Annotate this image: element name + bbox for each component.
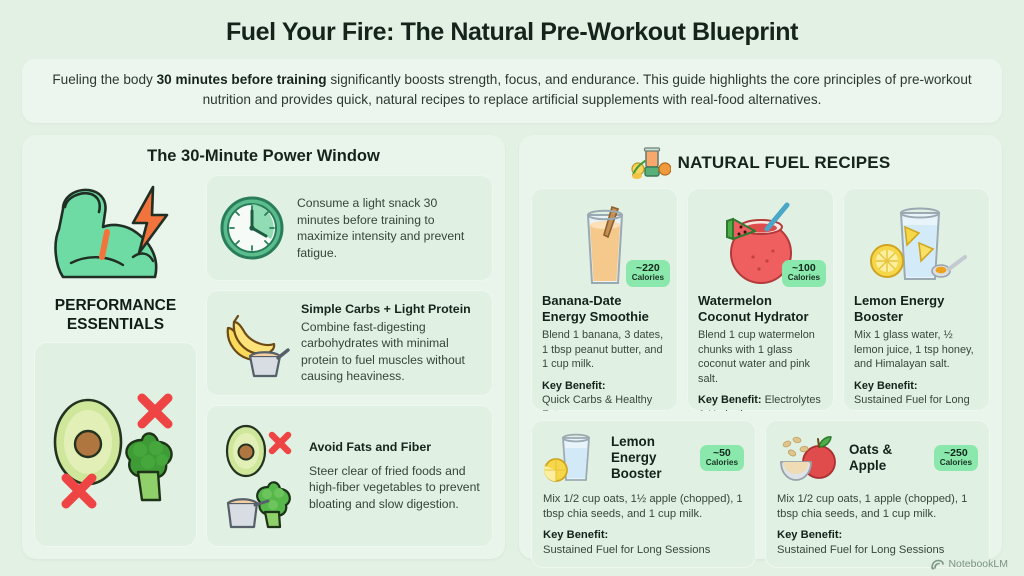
recipe-image-3 xyxy=(854,197,979,289)
recipe-desc-3: Mix 1 glass water, ½ lemon juice, 1 tsp … xyxy=(854,328,979,372)
performance-essentials-label: PERFORMANCE ESSENTIALS xyxy=(34,296,197,334)
clock-icon-wrap xyxy=(218,194,286,262)
left-panel-heading: The 30-Minute Power Window xyxy=(34,147,493,166)
recipe-benefit-4: Key Benefit: Sustained Fuel for Long Ses… xyxy=(543,528,744,558)
subtitle-pre: Fueling the body xyxy=(52,72,156,87)
left-visuals-column: PERFORMANCE ESSENTIALS xyxy=(34,175,197,547)
tip-text-1: Consume a light snack 30 minutes before … xyxy=(297,195,481,261)
blender-fruits-icon xyxy=(631,147,671,179)
recipe-desc-1: Blend 1 banana, 3 dates, 1 tbsp peanut b… xyxy=(542,328,667,372)
benefit-value-4: Sustained Fuel for Long Sessions xyxy=(543,544,710,556)
recipe-title-3: Lemon Energy Booster xyxy=(854,293,979,324)
calorie-label-4: Calories xyxy=(706,459,738,468)
clock-icon xyxy=(218,194,286,262)
recipe-row-bottom: Lemon Energy Booster ~50 Calories Mix 1/… xyxy=(531,420,990,568)
notebooklm-logo-icon xyxy=(931,559,944,570)
right-panel-heading: NATURAL FUEL RECIPES xyxy=(678,153,891,173)
left-panel-body: PERFORMANCE ESSENTIALS xyxy=(34,175,493,547)
recipe-card-oats-apple[interactable]: Oats & Apple ~250 Calories Mix 1/2 cup o… xyxy=(765,420,990,568)
recipe-card-watermelon-coconut[interactable]: ~100 Calories Watermelon Coconut Hydrato… xyxy=(687,188,834,411)
tip-body-3: Steer clear of fried foods and high-fibe… xyxy=(309,463,481,513)
banana-protein-scoop-icon xyxy=(218,308,290,378)
avoid-foods-icon-wrap xyxy=(218,421,298,531)
recipe-card-lemon-energy[interactable]: Lemon Energy Booster Mix 1 glass water, … xyxy=(843,188,990,411)
recipe-card-banana-date[interactable]: ~220 Calories Banana-Date Energy Smoothi… xyxy=(531,188,678,411)
right-panel-heading-row: NATURAL FUEL RECIPES xyxy=(531,147,990,179)
tip-title-2: Simple Carbs + Light Protein xyxy=(301,302,481,316)
calorie-badge-5: ~250 Calories xyxy=(934,445,978,472)
subtitle-text: Fueling the body 30 minutes before train… xyxy=(52,70,972,110)
recipe-benefit-1: Key Benefit: Quick Carbs & Healthy Fats xyxy=(542,379,667,411)
recipe-benefit-2: Key Benefit: Electrolytes & Hydration xyxy=(698,393,823,411)
benefit-label-2: Key Benefit: xyxy=(698,394,762,406)
no-mark-icon xyxy=(272,435,288,451)
benefit-label-1: Key Benefit: xyxy=(542,380,606,392)
recipe-card-lemon-energy-wide[interactable]: Lemon Energy Booster ~50 Calories Mix 1/… xyxy=(531,420,756,568)
benefit-value-1: Quick Carbs & Healthy Fats xyxy=(542,394,652,411)
recipe-title-5: Oats & Apple xyxy=(849,442,924,474)
natural-fuel-recipes-panel: NATURAL FUEL RECIPES xyxy=(519,135,1002,559)
calorie-label-2: Calories xyxy=(788,274,820,283)
recipe-benefit-3: Key Benefit: Sustained Fuel for Long xyxy=(854,379,979,408)
banana-scoop-icon-wrap xyxy=(218,308,290,378)
recipe-title-2: Watermelon Coconut Hydrator xyxy=(698,293,823,324)
benefit-value-5: Sustained Fuel for Long Sessions xyxy=(777,544,944,556)
benefit-label-3: Key Benefit: xyxy=(854,380,918,392)
recipe-benefit-5: Key Benefit: Sustained Fuel for Long Ses… xyxy=(777,528,978,558)
recipe-desc-2: Blend 1 cup watermelon chunks with 1 gla… xyxy=(698,328,823,386)
tip-card-power-window: Consume a light snack 30 minutes before … xyxy=(206,175,493,281)
calorie-badge-1: ~220 Calories xyxy=(626,260,670,287)
oats-bowl-apple-icon xyxy=(777,432,839,484)
infographic-page: Fuel Your Fire: The Natural Pre-Workout … xyxy=(0,0,1024,576)
calorie-label-1: Calories xyxy=(632,274,664,283)
recipe-head-5: Oats & Apple ~250 Calories xyxy=(777,430,978,486)
subtitle-banner: Fueling the body 30 minutes before train… xyxy=(22,59,1002,123)
avocado-broccoli-scoop-icon xyxy=(218,421,298,531)
lemon-water-honey-icon xyxy=(867,199,967,287)
avocado-broccoli-no-icon xyxy=(46,380,186,510)
left-tip-cards: Consume a light snack 30 minutes before … xyxy=(206,175,493,547)
performance-essentials-panel: The 30-Minute Power Window xyxy=(22,135,505,559)
tip-body-2: Combine fast-digesting carbohydrates wit… xyxy=(301,319,481,385)
tip-text-3: Avoid Fats and Fiber Steer clear of frie… xyxy=(309,440,481,513)
recipe-desc-5: Mix 1/2 cup oats, 1 apple (chopped), 1 t… xyxy=(777,492,978,522)
page-title: Fuel Your Fire: The Natural Pre-Workout … xyxy=(0,0,1024,47)
tip-text-2: Simple Carbs + Light Protein Combine fas… xyxy=(301,302,481,385)
avoid-foods-illustration-card xyxy=(34,342,197,547)
recipe-title-4: Lemon Energy Booster xyxy=(611,434,690,482)
benefit-value-3: Sustained Fuel for Long xyxy=(854,394,970,406)
subtitle-highlight: 30 minutes before training xyxy=(157,72,327,87)
recipe-title-1: Banana-Date Energy Smoothie xyxy=(542,293,667,324)
flexed-biceps-icon xyxy=(41,177,191,289)
benefit-label-5: Key Benefit: xyxy=(777,529,842,541)
recipe-row-top: ~220 Calories Banana-Date Energy Smoothi… xyxy=(531,188,990,411)
tip-body-1: Consume a light snack 30 minutes before … xyxy=(297,195,481,261)
calorie-label-5: Calories xyxy=(940,459,972,468)
recipe-desc-4: Mix 1/2 cup oats, 1½ apple (chopped), 1 … xyxy=(543,492,744,522)
tip-card-avoid-fats: Avoid Fats and Fiber Steer clear of frie… xyxy=(206,405,493,547)
lemon-water-glass-icon xyxy=(543,432,601,484)
watermark: NotebookLM xyxy=(931,558,1008,570)
tip-title-3: Avoid Fats and Fiber xyxy=(309,440,481,454)
tip-card-simple-carbs: Simple Carbs + Light Protein Combine fas… xyxy=(206,290,493,396)
benefit-label-4: Key Benefit: xyxy=(543,529,608,541)
muscle-illustration xyxy=(34,175,197,290)
watermark-text: NotebookLM xyxy=(948,558,1008,570)
calorie-badge-4: ~50 Calories xyxy=(700,445,744,472)
content-columns: The 30-Minute Power Window xyxy=(22,135,1002,559)
recipe-head-4: Lemon Energy Booster ~50 Calories xyxy=(543,430,744,486)
calorie-badge-2: ~100 Calories xyxy=(782,260,826,287)
